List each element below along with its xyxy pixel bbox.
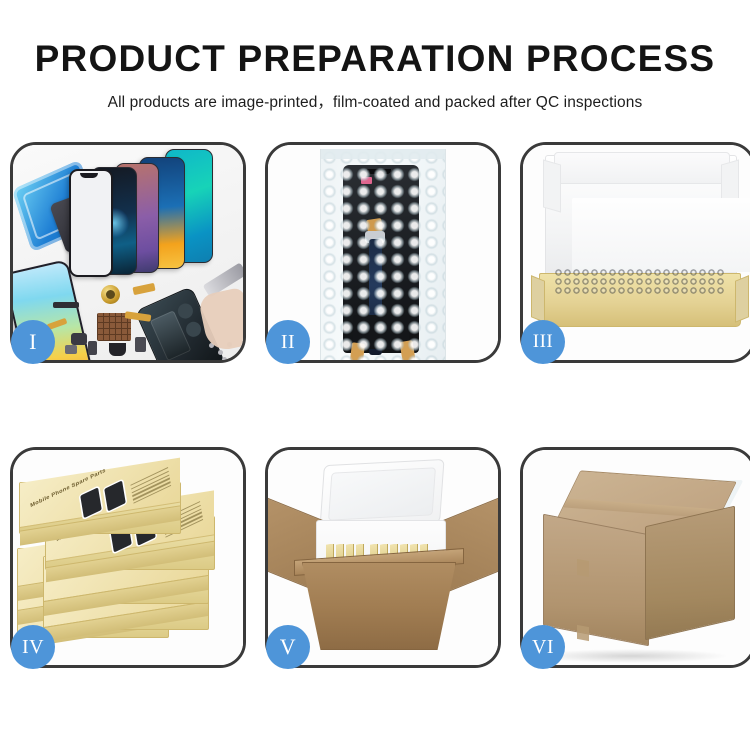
box-lid-flap-left (543, 159, 561, 212)
box-lid-open (545, 155, 737, 283)
bubble-texture (321, 149, 445, 360)
foam-cooler-lid (319, 459, 444, 529)
step-badge-2: II (266, 320, 310, 364)
process-step-3: III (520, 142, 750, 363)
process-step-5: V (265, 447, 501, 668)
copper-coil-part (101, 285, 120, 304)
retail-box-labeled-top: Mobile Phone Spare Parts (19, 482, 181, 534)
box-lid-top-edge (554, 152, 730, 184)
process-step-2: II (265, 142, 501, 363)
phone-glass-panel (69, 169, 113, 277)
sim-tray-part (88, 341, 97, 355)
sealed-carton (537, 476, 737, 642)
process-step-1: I (10, 142, 246, 363)
step-badge-1: I (11, 320, 55, 364)
kraft-box-base (539, 273, 741, 327)
taptic-engine-part (109, 343, 126, 356)
white-foam-sheet (572, 198, 750, 272)
box-art-phone-2 (104, 480, 126, 511)
carton-side-face (645, 506, 735, 641)
small-module-part (71, 333, 87, 345)
bubble-cushion-fill (554, 268, 726, 294)
carton-front-face (543, 514, 649, 647)
product-preparation-infographic: PRODUCT PREPARATION PROCESS All products… (0, 0, 750, 750)
page-title: PRODUCT PREPARATION PROCESS (0, 40, 750, 77)
phone-fan-group (73, 151, 243, 281)
step-badge-5: V (266, 625, 310, 669)
speaker-part (53, 302, 79, 308)
carton-tape-lower (577, 625, 589, 641)
step-badge-3: III (521, 320, 565, 364)
header: PRODUCT PREPARATION PROCESS All products… (0, 0, 750, 112)
box-spec-lines (130, 467, 171, 506)
step-badge-6: VI (521, 625, 565, 669)
carton-tape-upper (577, 559, 589, 577)
box-base-flap-left (531, 275, 545, 323)
process-step-4: Mobile Phone Spare Parts Mobile Phone Sp… (10, 447, 246, 668)
box-art-phone-1 (80, 487, 102, 518)
bubble-wrap-bag (320, 149, 446, 360)
shipping-carton-body (302, 562, 456, 650)
step-badge-4: IV (11, 625, 55, 669)
page-subtitle: All products are image-printed，film-coat… (0, 90, 750, 112)
bag-seal-edge (321, 149, 445, 159)
box-base-flap-right (735, 275, 749, 323)
connector-part (135, 337, 146, 352)
process-step-6: VI (520, 447, 750, 668)
process-step-grid: I (10, 142, 740, 668)
button-part (65, 345, 77, 354)
